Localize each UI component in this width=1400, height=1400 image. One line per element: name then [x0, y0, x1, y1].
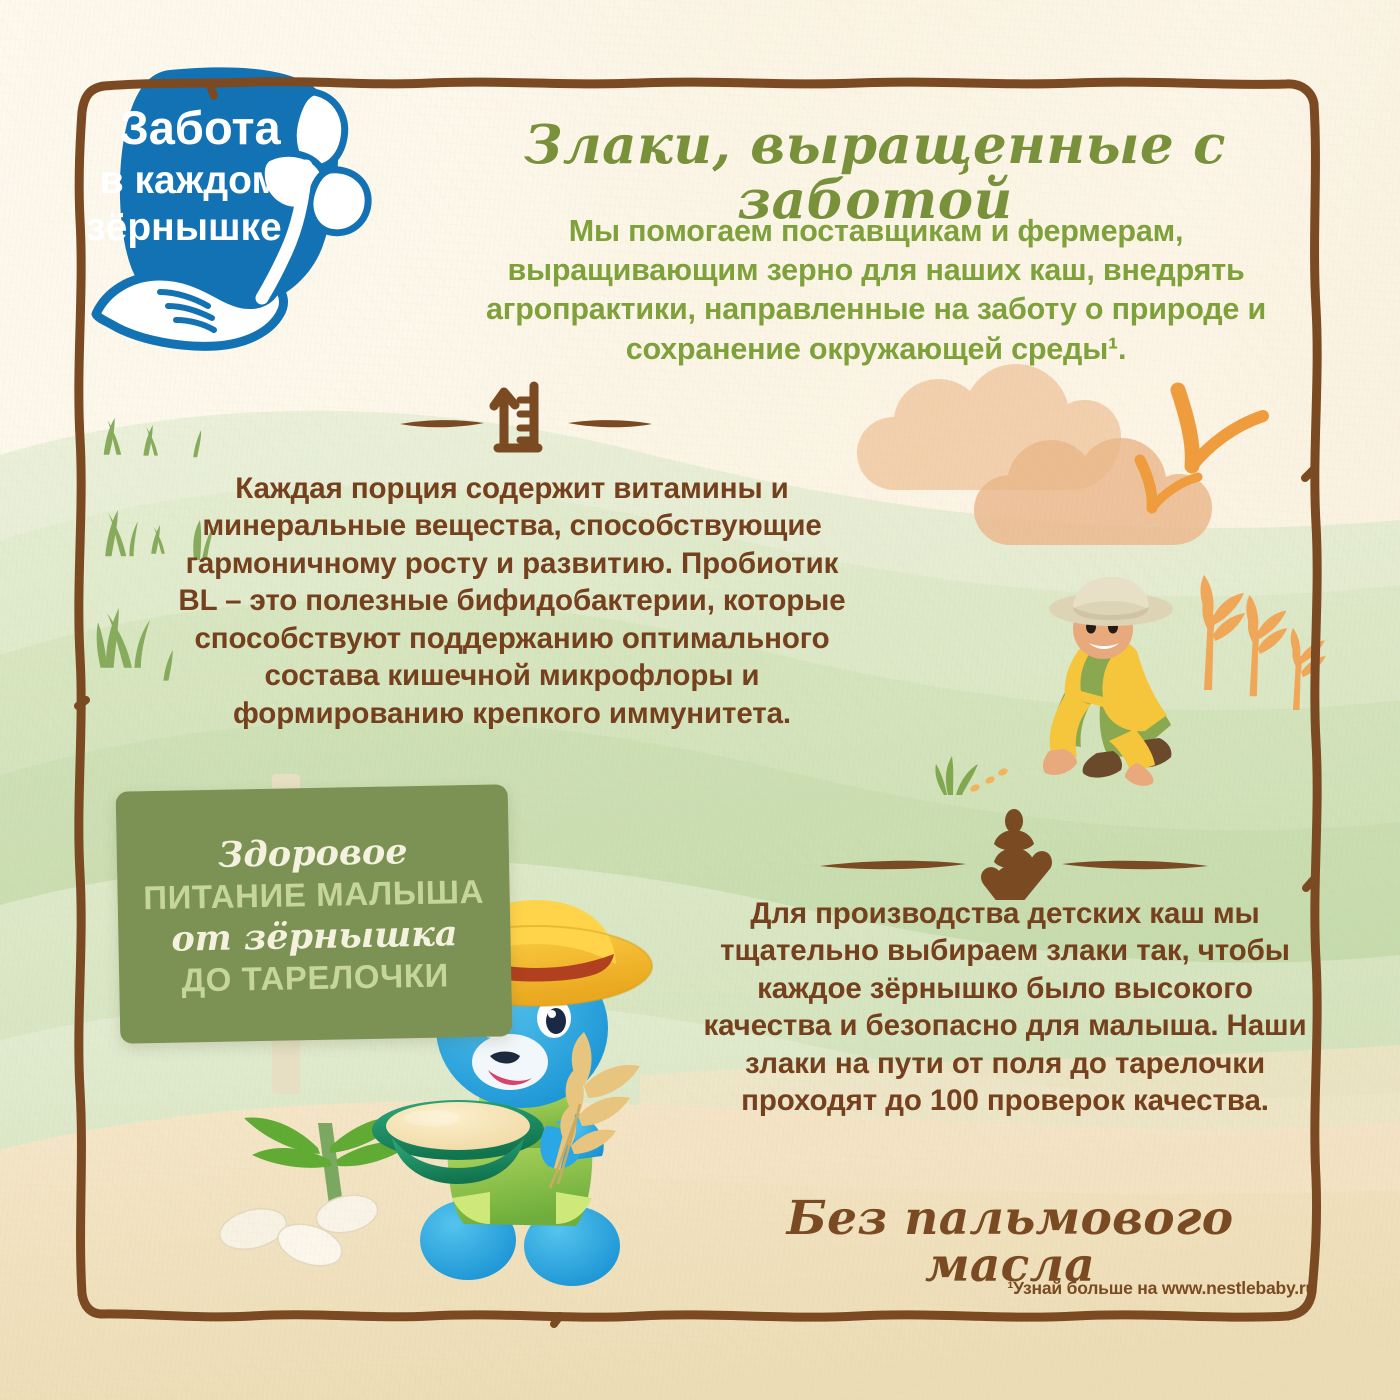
nutrition-paragraph: Каждая порция содержит витамины и минера… [178, 470, 846, 732]
wheat-check-icon [981, 809, 1052, 900]
sign-line-4: ДО ТАРЕЛОЧКИ [181, 956, 449, 1001]
logo-line-2: в каждом [100, 159, 281, 202]
infographic-poster: Забота в каждом зёрнышке Злаки, выращенн… [0, 0, 1400, 1400]
sign-line-3: от зёрнышка [171, 914, 458, 959]
no-palm-oil-claim: Без пальмового масла [700, 1195, 1320, 1289]
lede-paragraph: Мы помогаем поставщикам и фермерам, выра… [458, 212, 1294, 369]
growth-ruler-divider [398, 372, 654, 462]
logo-line-3: зёрнышке [86, 206, 281, 249]
healthy-nutrition-sign: Здоровое ПИТАНИЕ МАЛЫША от зёрнышка ДО Т… [118, 788, 510, 1040]
sign-line-1: Здоровое [218, 832, 408, 875]
sign-line-2: ПИТАНИЕ МАЛЫША [143, 872, 484, 918]
growth-ruler-icon [494, 386, 538, 448]
footnote: ¹Узнай больше на www.nestlebaby.ru [760, 1278, 1316, 1299]
quality-paragraph: Для производства детских каш мы тщательн… [690, 895, 1320, 1120]
farmer-sowing-seeds-illustration [985, 565, 1315, 800]
logo-line-1: Забота [119, 101, 281, 154]
zabota-v-kazhdom-zernyshke-logo: Забота в каждом зёрнышке [72, 62, 402, 362]
wheat-check-divider [818, 808, 1210, 900]
